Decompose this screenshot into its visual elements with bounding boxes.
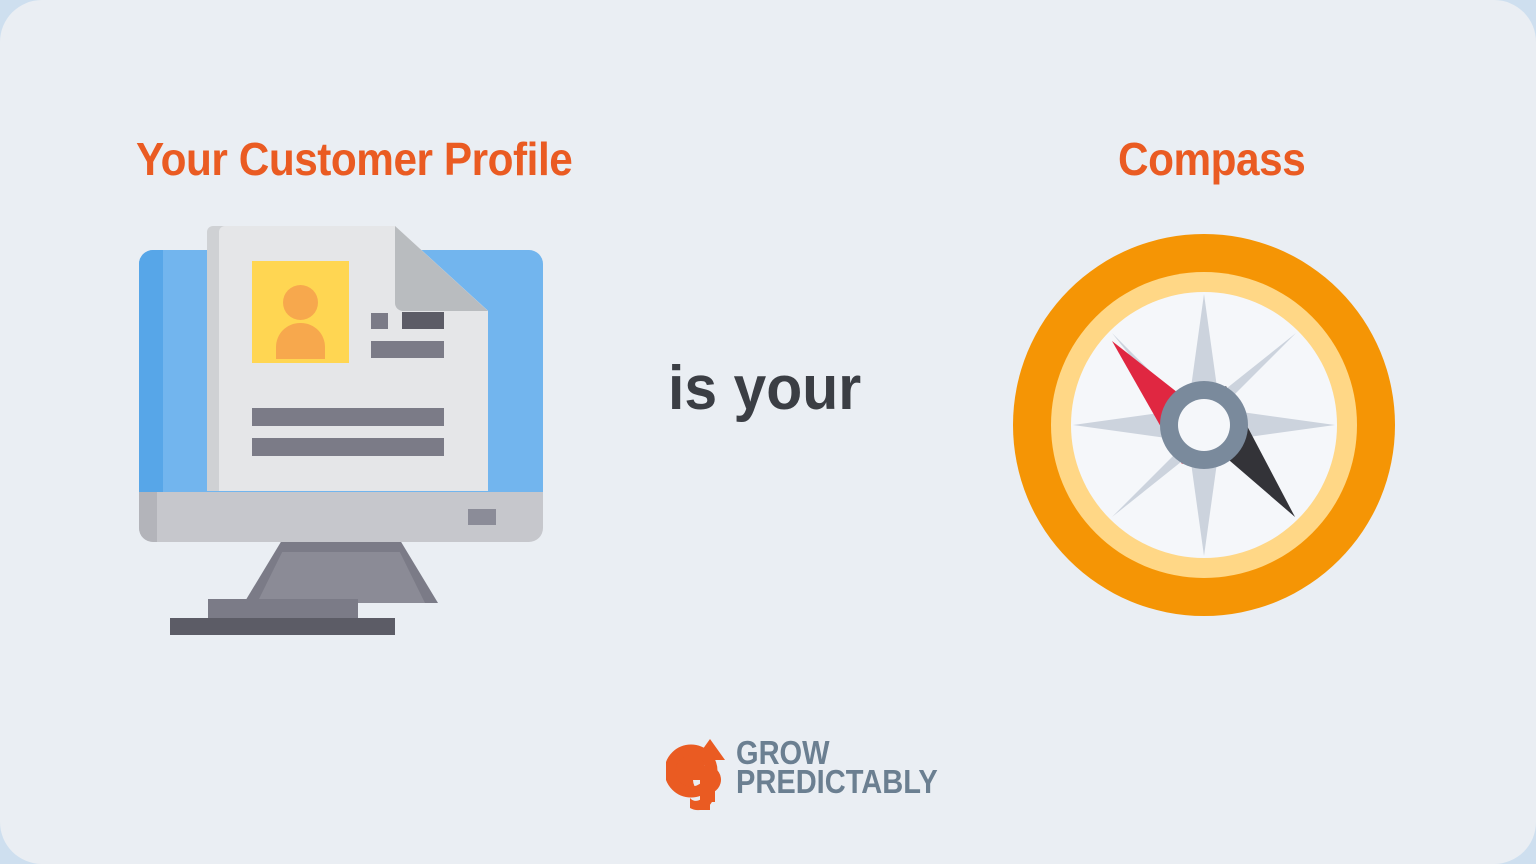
document-text-bar: [252, 438, 444, 456]
customer-profile-document: [207, 226, 488, 491]
document-text-bar: [402, 312, 444, 329]
document-text-bar: [371, 313, 388, 329]
page-title-right: Compass: [1118, 136, 1305, 182]
brand-logo-line-2: PREDICTABLY: [736, 767, 938, 796]
monitor-stand-neck-highlight: [257, 552, 425, 603]
brand-logo: GROW PREDICTABLY: [666, 736, 876, 812]
document-text-bar: [371, 341, 444, 358]
slide-canvas: Your Customer Profile Compass is your: [0, 0, 1536, 864]
brand-logo-text: GROW PREDICTABLY: [736, 738, 938, 796]
compass-hub-inner: [1178, 399, 1230, 451]
monitor-screen-shade: [139, 250, 163, 492]
document-text-bar: [252, 408, 444, 426]
center-phrase: is your: [668, 358, 861, 420]
compass-illustration: [1013, 234, 1395, 616]
monitor-stand-base: [170, 618, 395, 635]
monitor-bezel-shade: [139, 492, 157, 542]
g-arrow-logo-mark-icon: [666, 736, 732, 812]
page-title-left: Your Customer Profile: [136, 136, 572, 182]
monitor-indicator-icon: [468, 509, 496, 525]
avatar-head-icon: [283, 285, 318, 320]
